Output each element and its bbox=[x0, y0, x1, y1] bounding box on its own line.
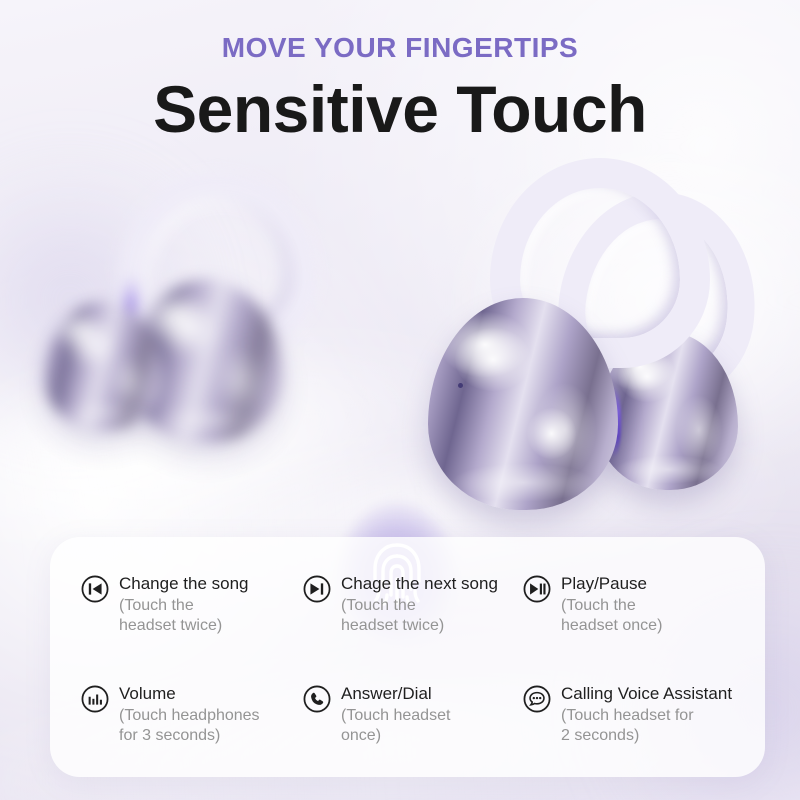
earbud-highlight-secondary bbox=[527, 408, 576, 459]
feature-item-change-the-next-song[interactable]: Chage the next song (Touch the headset t… bbox=[302, 573, 498, 636]
next-track-icon bbox=[302, 574, 332, 604]
feature-label: Change the song bbox=[119, 573, 249, 594]
feature-item-play-pause[interactable]: Play/Pause (Touch the headset once) bbox=[522, 573, 662, 636]
microphone-hole bbox=[458, 383, 463, 388]
earbud-highlight bbox=[154, 303, 221, 358]
feature-hint: (Touch the headset twice) bbox=[341, 596, 498, 636]
feature-text: Answer/Dial (Touch headset once) bbox=[341, 683, 450, 746]
feature-label: Calling Voice Assistant bbox=[561, 683, 732, 704]
feature-label: Play/Pause bbox=[561, 573, 662, 594]
volume-equalizer-icon bbox=[80, 684, 110, 714]
feature-hint: (Touch headset once) bbox=[341, 706, 450, 746]
promo-image: MOVE YOUR FINGERTIPS Sensitive Touch bbox=[0, 0, 800, 800]
touch-controls-card: Change the song (Touch the headset twice… bbox=[50, 537, 765, 777]
product-scene bbox=[0, 150, 800, 550]
feature-label: Volume bbox=[119, 683, 260, 704]
speech-bubble-dots-icon bbox=[522, 684, 552, 714]
phone-handset-icon bbox=[302, 684, 332, 714]
feature-label: Chage the next song bbox=[341, 573, 498, 594]
kicker-text: MOVE YOUR FINGERTIPS bbox=[0, 34, 800, 62]
feature-item-calling-voice-assistant[interactable]: Calling Voice Assistant (Touch headset f… bbox=[522, 683, 732, 746]
feature-grid: Change the song (Touch the headset twice… bbox=[50, 537, 765, 777]
feature-text: Chage the next song (Touch the headset t… bbox=[341, 573, 498, 636]
feature-item-answer-dial[interactable]: Answer/Dial (Touch headset once) bbox=[302, 683, 450, 746]
earbud-highlight-main bbox=[455, 328, 531, 392]
feature-hint: (Touch headset for 2 seconds) bbox=[561, 706, 732, 746]
previous-track-icon bbox=[80, 574, 110, 604]
feature-label: Answer/Dial bbox=[341, 683, 450, 704]
feature-text: Change the song (Touch the headset twice… bbox=[119, 573, 249, 636]
feature-item-volume[interactable]: Volume (Touch headphones for 3 seconds) bbox=[80, 683, 260, 746]
earbud-highlight bbox=[66, 322, 119, 368]
feature-text: Volume (Touch headphones for 3 seconds) bbox=[119, 683, 260, 746]
headline-block: MOVE YOUR FINGERTIPS Sensitive Touch bbox=[0, 34, 800, 142]
feature-text: Calling Voice Assistant (Touch headset f… bbox=[561, 683, 732, 746]
feature-item-change-the-song[interactable]: Change the song (Touch the headset twice… bbox=[80, 573, 249, 636]
page-title: Sensitive Touch bbox=[0, 76, 800, 142]
feature-hint: (Touch the headset twice) bbox=[119, 596, 249, 636]
play-pause-icon bbox=[522, 574, 552, 604]
feature-hint: (Touch headphones for 3 seconds) bbox=[119, 706, 260, 746]
feature-hint: (Touch the headset once) bbox=[561, 596, 662, 636]
feature-text: Play/Pause (Touch the headset once) bbox=[561, 573, 662, 636]
